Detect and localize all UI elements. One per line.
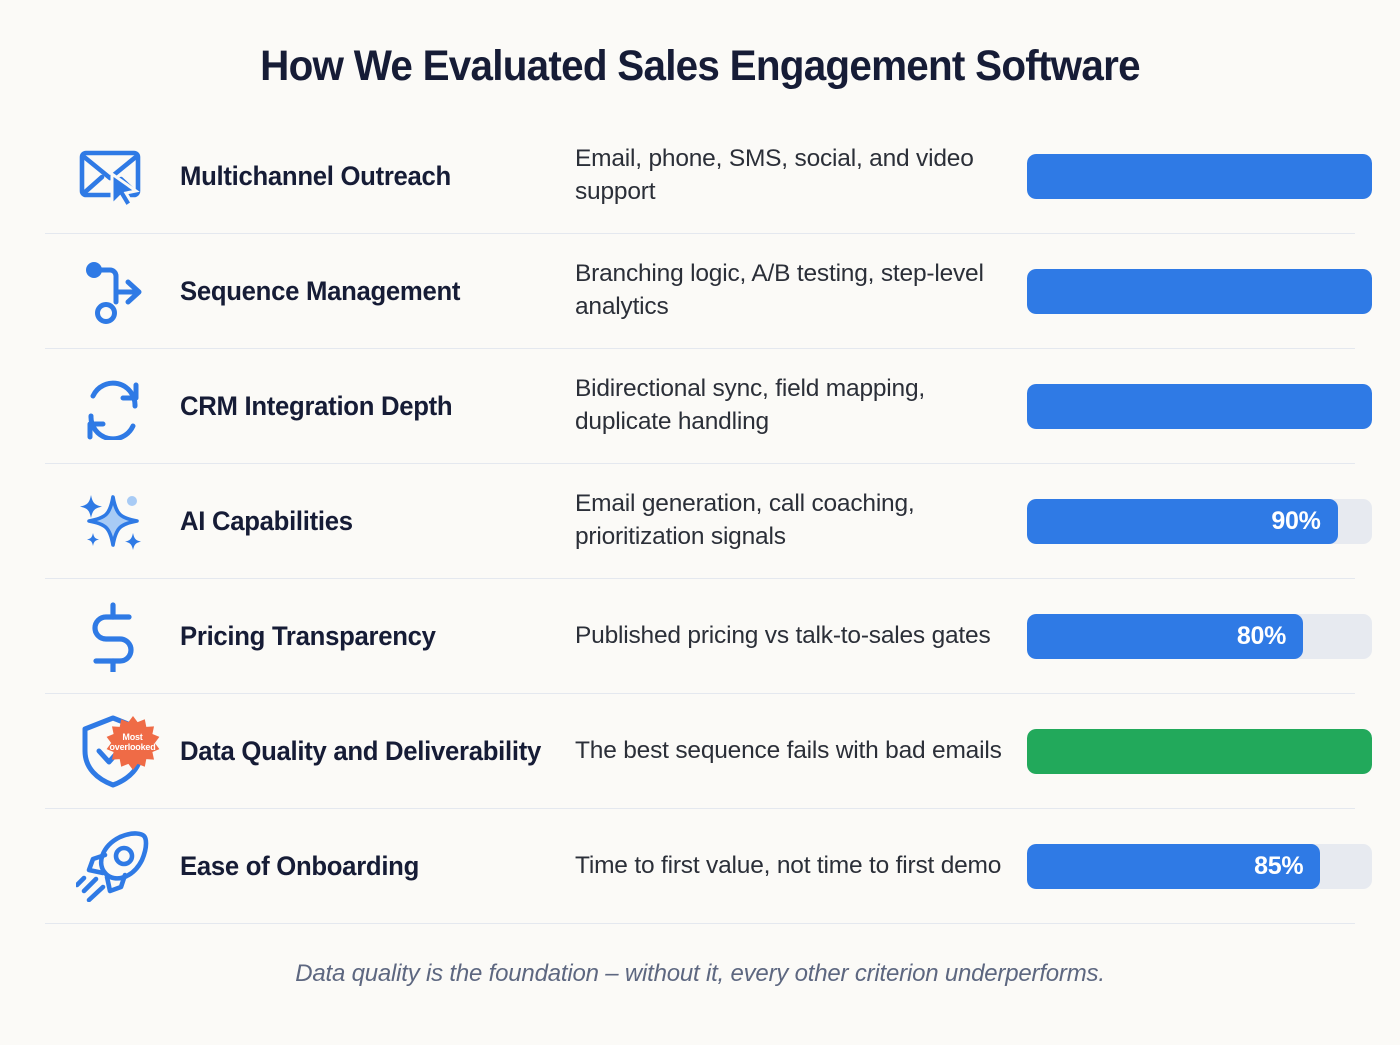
score-bar-label: 85% bbox=[1254, 852, 1303, 881]
infographic-page: How We Evaluated Sales Engagement Softwa… bbox=[0, 0, 1400, 1045]
icon-cell: Most overlooked bbox=[45, 713, 180, 789]
criteria-label: Pricing Transparency bbox=[180, 619, 563, 654]
score-bar-fill: 90% bbox=[1027, 499, 1338, 544]
score-bar-fill bbox=[1027, 154, 1372, 199]
envelope-cursor-icon bbox=[75, 138, 151, 214]
criteria-description: Email, phone, SMS, social, and video sup… bbox=[575, 143, 1005, 208]
criteria-row: Ease of Onboarding Time to first value, … bbox=[45, 809, 1355, 924]
criteria-label: CRM Integration Depth bbox=[180, 389, 563, 424]
rocket-icon bbox=[75, 828, 151, 904]
score-bar-track bbox=[1027, 384, 1372, 429]
criteria-description: Bidirectional sync, field mapping, dupli… bbox=[575, 373, 1005, 438]
icon-cell bbox=[45, 483, 180, 559]
sparkles-icon bbox=[75, 483, 151, 559]
criteria-row: CRM Integration Depth Bidirectional sync… bbox=[45, 349, 1355, 464]
footer-note: Data quality is the foundation – without… bbox=[0, 960, 1400, 988]
score-bar-track: 80% bbox=[1027, 614, 1372, 659]
page-title: How We Evaluated Sales Engagement Softwa… bbox=[42, 0, 1358, 91]
most-overlooked-badge: Most overlooked bbox=[105, 715, 161, 771]
criteria-row: Pricing Transparency Published pricing v… bbox=[45, 579, 1355, 694]
branch-arrow-icon bbox=[75, 253, 151, 329]
criteria-row: Sequence Management Branching logic, A/B… bbox=[45, 234, 1355, 349]
icon-cell bbox=[45, 598, 180, 674]
score-bar-track bbox=[1027, 154, 1372, 199]
score-bar-label: 90% bbox=[1271, 507, 1320, 536]
score-bar-fill bbox=[1027, 269, 1372, 314]
score-bar-fill: 85% bbox=[1027, 844, 1320, 889]
score-bar-cell: 80% bbox=[1005, 614, 1372, 659]
criteria-list: Multichannel Outreach Email, phone, SMS,… bbox=[45, 119, 1355, 924]
score-bar-cell: 85% bbox=[1005, 844, 1372, 889]
criteria-description: The best sequence fails with bad emails bbox=[575, 735, 1005, 768]
score-bar-fill bbox=[1027, 729, 1372, 774]
score-bar-cell bbox=[1005, 269, 1372, 314]
score-bar-track: 85% bbox=[1027, 844, 1372, 889]
criteria-label: Ease of Onboarding bbox=[180, 849, 563, 884]
criteria-row: Multichannel Outreach Email, phone, SMS,… bbox=[45, 119, 1355, 234]
criteria-label: Sequence Management bbox=[180, 274, 563, 309]
criteria-description: Email generation, call coaching, priorit… bbox=[575, 488, 1005, 553]
criteria-label: Data Quality and Deliverability bbox=[180, 734, 563, 769]
score-bar-cell bbox=[1005, 384, 1372, 429]
icon-cell bbox=[45, 138, 180, 214]
score-bar-cell: 90% bbox=[1005, 499, 1372, 544]
criteria-description: Published pricing vs talk-to-sales gates bbox=[575, 620, 1005, 653]
score-bar-cell bbox=[1005, 154, 1372, 199]
criteria-label: AI Capabilities bbox=[180, 504, 563, 539]
score-bar-track: 90% bbox=[1027, 499, 1372, 544]
badge-label: Most overlooked bbox=[110, 733, 156, 753]
sync-arrows-icon bbox=[75, 368, 151, 444]
score-bar-fill: 80% bbox=[1027, 614, 1303, 659]
criteria-description: Branching logic, A/B testing, step-level… bbox=[575, 258, 1005, 323]
criteria-description: Time to first value, not time to first d… bbox=[575, 850, 1005, 883]
score-bar-fill bbox=[1027, 384, 1372, 429]
score-bar-label: 80% bbox=[1237, 622, 1286, 651]
icon-cell bbox=[45, 253, 180, 329]
criteria-label: Multichannel Outreach bbox=[180, 159, 563, 194]
score-bar-track bbox=[1027, 729, 1372, 774]
shield-check-icon: Most overlooked bbox=[75, 713, 151, 789]
score-bar-track bbox=[1027, 269, 1372, 314]
score-bar-cell bbox=[1005, 729, 1372, 774]
dollar-sign-icon bbox=[75, 598, 151, 674]
icon-cell bbox=[45, 828, 180, 904]
icon-cell bbox=[45, 368, 180, 444]
criteria-row: AI Capabilities Email generation, call c… bbox=[45, 464, 1355, 579]
criteria-row: Most overlooked Data Quality and Deliver… bbox=[45, 694, 1355, 809]
